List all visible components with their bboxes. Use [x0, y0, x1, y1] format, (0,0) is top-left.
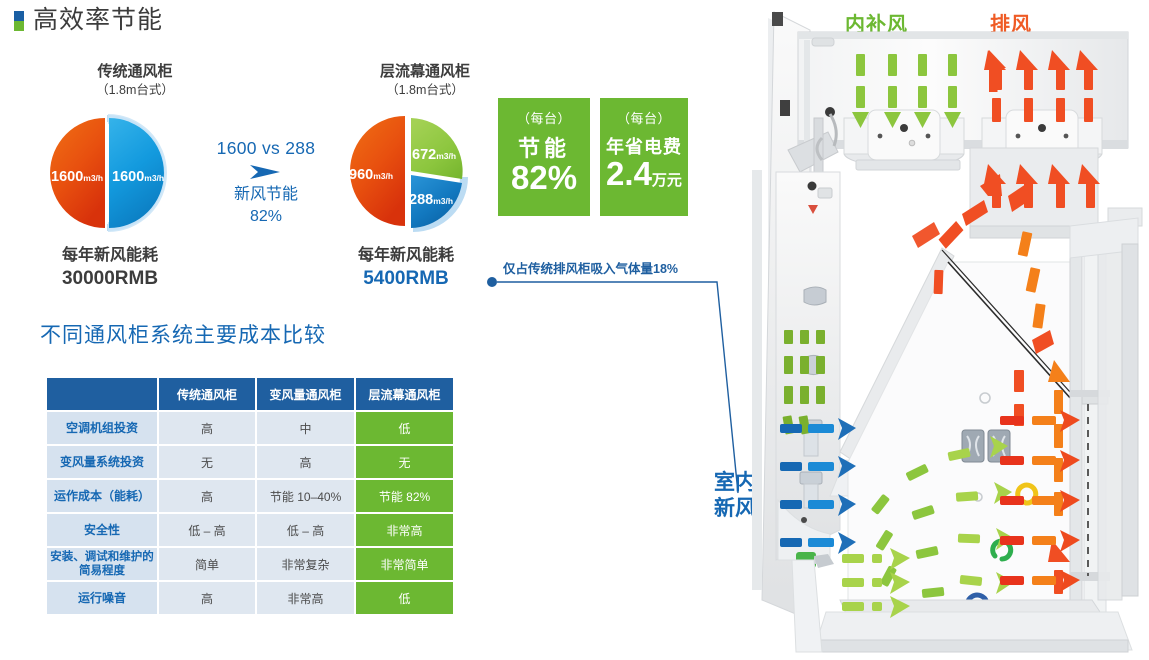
table-row: 安全性 低 – 高 低 – 高 非常高	[47, 514, 453, 546]
table-cell-highlight: 低	[356, 412, 453, 444]
table-cell: 非常复杂	[257, 548, 354, 580]
pie-left-footer: 每年新风能耗 30000RMB	[0, 245, 220, 291]
table-cell: 非常高	[257, 582, 354, 614]
table-header-cell-2: 变风量通风柜	[257, 378, 354, 410]
table-cell: 低 – 高	[159, 514, 255, 546]
table-row-label: 安装、调试和维护的简易程度	[47, 548, 157, 580]
table-header-row: 传统通风柜 变风量通风柜 层流幕通风柜	[47, 378, 453, 410]
header-logo-icon	[14, 11, 24, 31]
table-row-label: 运行噪音	[47, 582, 157, 614]
pie-right-slice-2-label: 288m3/h	[409, 191, 453, 209]
table-row-label: 变风量系统投资	[47, 446, 157, 478]
table-cell-highlight: 无	[356, 446, 453, 478]
table-header-cell-0	[47, 378, 157, 410]
page-title: 高效率节能	[33, 8, 163, 33]
table-header-cell-1: 传统通风柜	[159, 378, 255, 410]
callout-leader-line	[485, 275, 745, 515]
badge-energy-saving: （每台） 节能 82%	[498, 98, 590, 216]
comparison-block: 1600 vs 288 新风节能 82%	[196, 138, 336, 227]
table-row: 运作成本（能耗） 高 节能 10–40% 节能 82%	[47, 480, 453, 512]
table-row: 运行噪音 高 非常高 低	[47, 582, 453, 614]
comparison-ratio: 1600 vs 288	[196, 138, 336, 159]
table-header-cell-3: 层流幕通风柜	[356, 378, 453, 410]
comparison-saving-label: 新风节能	[196, 184, 336, 206]
badge-energy-value: 82%	[498, 161, 590, 196]
pie-right-title: 层流幕通风柜 （1.8m台式）	[325, 62, 525, 99]
table-cell: 高	[159, 480, 255, 512]
pie-left-slice-1-label: 1600m3/h	[112, 168, 164, 186]
comparison-saving-value: 82%	[196, 206, 336, 228]
table-row-label: 安全性	[47, 514, 157, 546]
pie-right-slice-1-label: 672m3/h	[412, 146, 456, 164]
table-cell: 高	[159, 582, 255, 614]
table-cell: 低 – 高	[257, 514, 354, 546]
table-cell: 中	[257, 412, 354, 444]
table-cell: 高	[257, 446, 354, 478]
pie-chart-laminar: 960m3/h 672m3/h 288m3/h	[345, 110, 471, 236]
pie-right-slice-0-label: 960m3/h	[349, 166, 393, 184]
table-row: 变风量系统投资 无 高 无	[47, 446, 453, 478]
table-row-label: 运作成本（能耗）	[47, 480, 157, 512]
arrow-right-icon	[246, 162, 286, 182]
cost-comparison-table: 传统通风柜 变风量通风柜 层流幕通风柜 空调机组投资 高 中 低 变风量系统投资…	[45, 376, 455, 616]
table-heading: 不同通风柜系统主要成本比较	[40, 319, 326, 349]
fume-hood-illustration	[752, 0, 1149, 660]
pie-left-title: 传统通风柜 （1.8m台式）	[35, 62, 235, 99]
table-row: 空调机组投资 高 中 低	[47, 412, 453, 444]
badge-cost-value: 2.4万元	[600, 157, 688, 192]
badge-cost-saving: （每台） 年省电费 2.4万元	[600, 98, 688, 216]
table-row-label: 空调机组投资	[47, 412, 157, 444]
table-cell-highlight: 非常高	[356, 514, 453, 546]
pie-chart-traditional: 1600m3/h 1600m3/h	[44, 110, 170, 236]
pie-left-slice-0-label: 1600m3/h	[51, 168, 103, 186]
page-header: 高效率节能	[14, 8, 163, 33]
table-cell: 简单	[159, 548, 255, 580]
table-cell-highlight: 非常简单	[356, 548, 453, 580]
table-cell: 无	[159, 446, 255, 478]
table-cell-highlight: 低	[356, 582, 453, 614]
table-cell-highlight: 节能 82%	[356, 480, 453, 512]
label-indoor-fresh-air: 室内 新风	[714, 470, 756, 523]
table-cell: 节能 10–40%	[257, 480, 354, 512]
table-row: 安装、调试和维护的简易程度 简单 非常复杂 非常简单	[47, 548, 453, 580]
fume-hood-svg	[752, 0, 1149, 660]
pie-right-footer: 每年新风能耗 5400RMB	[296, 245, 516, 291]
table-cell: 高	[159, 412, 255, 444]
